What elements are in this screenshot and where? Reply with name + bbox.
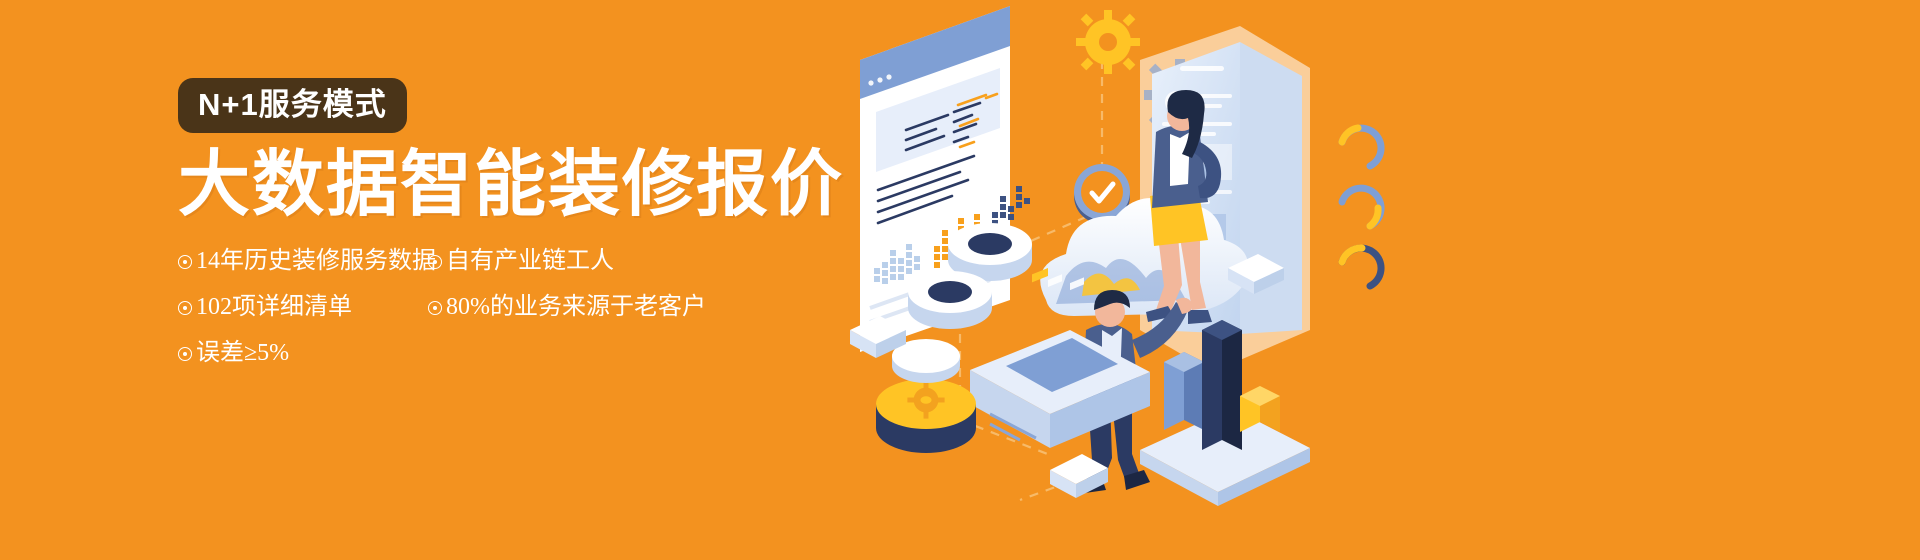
banner-copy-block: N+1服务模式 大数据智能装修报价 14年历史装修服务数据 102项详细清单 误… [178,78,898,387]
bullet-label: 102项详细清单 [196,295,352,319]
service-mode-badge: N+1服务模式 [178,78,407,133]
target-dot-icon [178,301,192,315]
list-item: 80%的业务来源于老客户 [428,295,728,319]
loading-ring-icon [1342,128,1381,286]
list-item: 误差≥5% [178,341,428,365]
list-item: 自有产业链工人 [428,249,728,273]
banner-headline: 大数据智能装修报价 [178,147,898,223]
target-dot-icon [178,255,192,269]
list-item: 102项详细清单 [178,295,428,319]
bar-column-blocks [1140,320,1310,506]
list-item: 14年历史装修服务数据 [178,249,428,273]
bullet-column-1: 14年历史装修服务数据 102项详细清单 误差≥5% [178,249,428,387]
bullet-label: 14年历史装修服务数据 [196,249,436,273]
bullet-column-2: 自有产业链工人 80%的业务来源于老客户 [428,249,728,387]
target-dot-icon [428,255,442,269]
illustration-big-data [840,0,1920,560]
bullet-label: 自有产业链工人 [446,249,614,273]
bullet-label: 误差≥5% [196,341,289,365]
bullet-label: 80%的业务来源于老客户 [446,295,706,319]
target-dot-icon [178,347,192,361]
promo-banner: N+1服务模式 大数据智能装修报价 14年历史装修服务数据 102项详细清单 误… [0,0,1920,560]
gear-yellow [1076,10,1140,74]
feature-bullet-list: 14年历史装修服务数据 102项详细清单 误差≥5% 自有产业链工人 80%的业… [178,249,898,387]
target-dot-icon [428,301,442,315]
